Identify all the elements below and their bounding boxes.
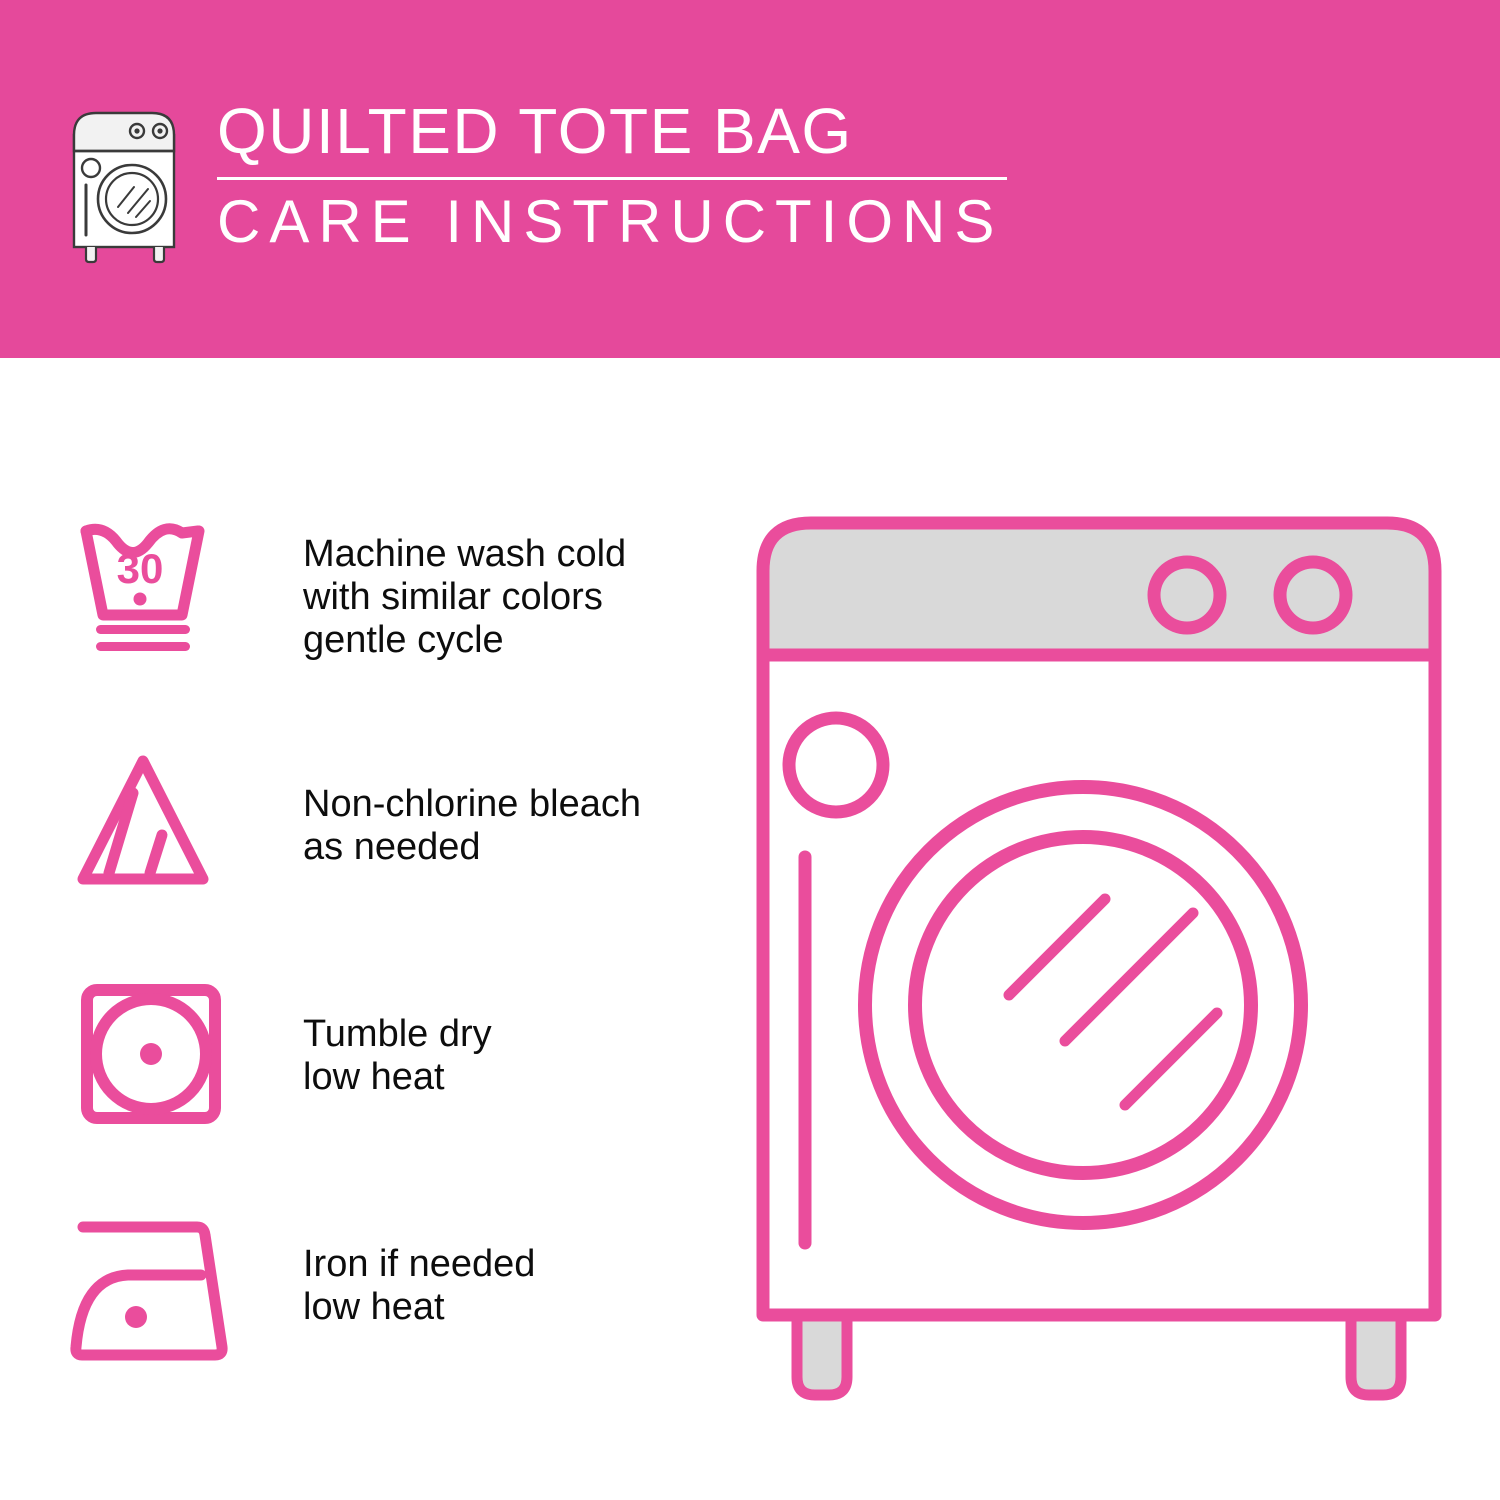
care-instruction-row: Tumble dry low heat bbox=[70, 965, 710, 1195]
care-text-line: as needed bbox=[303, 826, 713, 869]
iron-low-heat-icon bbox=[70, 1215, 250, 1380]
care-instruction-list: 30 Machine wash cold with similar colors… bbox=[70, 505, 710, 1425]
washer-leg-left bbox=[797, 1315, 847, 1395]
care-instruction-row: Non-chlorine bleach as needed bbox=[70, 735, 710, 965]
tumble-dry-low-icon bbox=[70, 973, 250, 1138]
washing-machine-logo-icon bbox=[62, 105, 192, 265]
care-text-line: Iron if needed bbox=[303, 1243, 713, 1286]
care-text-line: low heat bbox=[303, 1286, 713, 1329]
washer-leg-right bbox=[1351, 1315, 1401, 1395]
header-divider bbox=[217, 177, 1007, 180]
care-instruction-row: 30 Machine wash cold with similar colors… bbox=[70, 505, 710, 735]
header-banner: QUILTED TOTE BAG CARE INSTRUCTIONS bbox=[0, 0, 1500, 358]
page-title: QUILTED TOTE BAG bbox=[217, 95, 1077, 167]
care-text-line: Tumble dry bbox=[303, 1013, 713, 1056]
care-text-line: gentle cycle bbox=[303, 619, 713, 662]
header-content: QUILTED TOTE BAG CARE INSTRUCTIONS bbox=[62, 95, 1062, 285]
washing-machine-illustration bbox=[735, 495, 1455, 1425]
care-instruction-row: Iron if needed low heat bbox=[70, 1195, 710, 1425]
care-text-line: low heat bbox=[303, 1056, 713, 1099]
care-instruction-text: Tumble dry low heat bbox=[303, 1013, 713, 1099]
header-text-block: QUILTED TOTE BAG CARE INSTRUCTIONS bbox=[217, 95, 1077, 256]
wash-temperature-value: 30 bbox=[117, 545, 164, 592]
care-instruction-text: Iron if needed low heat bbox=[303, 1243, 713, 1329]
care-text-line: Non-chlorine bleach bbox=[303, 783, 713, 826]
bleach-triangle-non-chlorine-icon bbox=[70, 745, 250, 910]
washer-control-panel bbox=[763, 523, 1435, 655]
care-instruction-text: Machine wash cold with similar colors ge… bbox=[303, 533, 713, 662]
care-text-line: Machine wash cold bbox=[303, 533, 713, 576]
wash-tub-30-gentle-icon: 30 bbox=[70, 505, 250, 670]
care-instruction-text: Non-chlorine bleach as needed bbox=[303, 783, 713, 869]
page-subtitle: CARE INSTRUCTIONS bbox=[217, 188, 1077, 256]
care-text-line: with similar colors bbox=[303, 576, 713, 619]
